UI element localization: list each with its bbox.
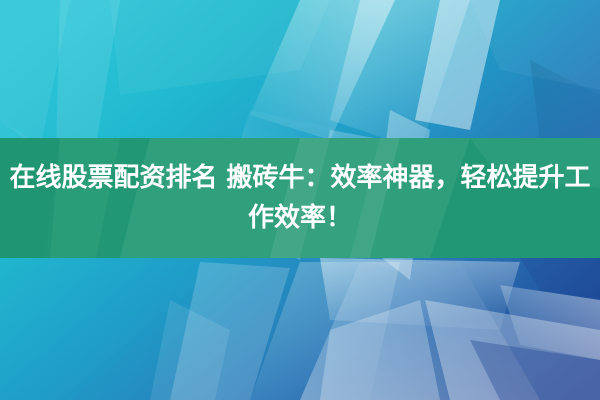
page-title: 在线股票配资排名 搬砖牛：效率神器，轻松提升工作效率！ [6, 158, 594, 238]
promo-banner: 在线股票配资排名 搬砖牛：效率神器，轻松提升工作效率！ [0, 0, 600, 400]
headline-container: 在线股票配资排名 搬砖牛：效率神器，轻松提升工作效率！ [0, 138, 600, 258]
